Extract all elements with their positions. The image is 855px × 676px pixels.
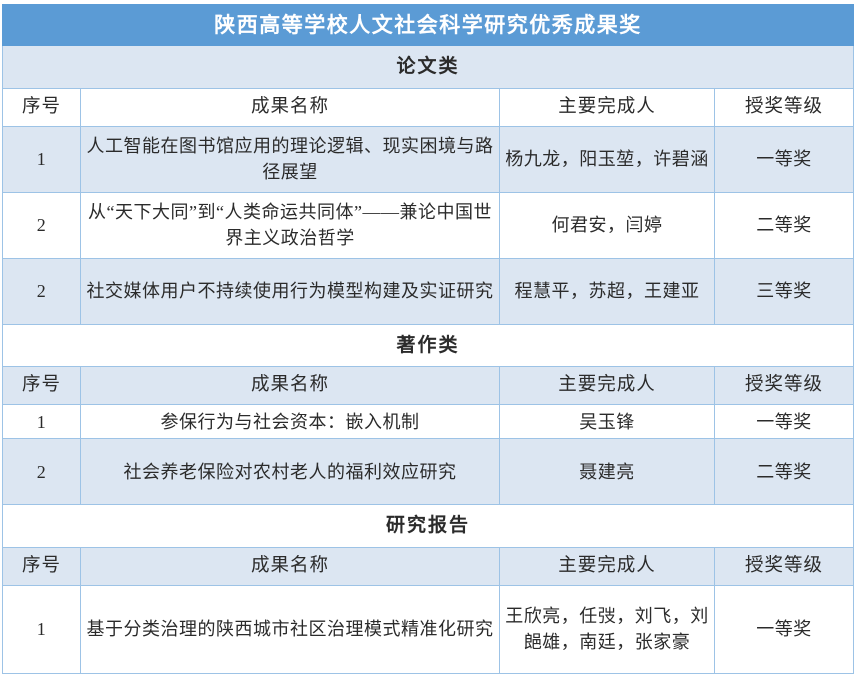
cell-seq: 2	[3, 439, 81, 505]
table-row: 2 社交媒体用户不持续使用行为模型构建及实证研究 程慧平，苏超，王建亚 三等奖	[3, 258, 854, 324]
cell-grade: 二等奖	[715, 439, 854, 505]
cell-name: 参保行为与社会资本：嵌入机制	[81, 405, 500, 439]
column-header-row-books: 序号 成果名称 主要完成人 授奖等级	[3, 367, 854, 405]
section-heading-row-books: 著作类	[3, 324, 854, 367]
column-header-seq: 序号	[3, 367, 81, 405]
column-header-seq: 序号	[3, 88, 81, 126]
cell-authors: 杨九龙，阳玉堃，许碧涵	[500, 126, 715, 192]
column-header-authors: 主要完成人	[500, 367, 715, 405]
cell-grade: 三等奖	[715, 258, 854, 324]
table-row: 1 基于分类治理的陕西城市社区治理模式精准化研究 王欣亮，任弢，刘飞，刘郒雄，南…	[3, 585, 854, 673]
column-header-seq: 序号	[3, 547, 81, 585]
cell-seq: 2	[3, 258, 81, 324]
column-header-grade: 授奖等级	[715, 88, 854, 126]
cell-seq: 2	[3, 192, 81, 258]
award-results-table: 陕西高等学校人文社会科学研究优秀成果奖 论文类 序号 成果名称 主要完成人 授奖…	[2, 4, 854, 674]
cell-authors: 程慧平，苏超，王建亚	[500, 258, 715, 324]
cell-seq: 1	[3, 126, 81, 192]
column-header-grade: 授奖等级	[715, 367, 854, 405]
cell-authors: 何君安，闫婷	[500, 192, 715, 258]
section-heading-reports: 研究报告	[3, 505, 854, 548]
table-row: 2 社会养老保险对农村老人的福利效应研究 聂建亮 二等奖	[3, 439, 854, 505]
cell-grade: 一等奖	[715, 585, 854, 673]
table-row: 2 从“天下大同”到“人类命运共同体”——兼论中国世界主义政治哲学 何君安，闫婷…	[3, 192, 854, 258]
cell-seq: 1	[3, 405, 81, 439]
cell-name: 基于分类治理的陕西城市社区治理模式精准化研究	[81, 585, 500, 673]
section-heading-row-reports: 研究报告	[3, 505, 854, 548]
cell-name: 社交媒体用户不持续使用行为模型构建及实证研究	[81, 258, 500, 324]
column-header-grade: 授奖等级	[715, 547, 854, 585]
cell-grade: 一等奖	[715, 405, 854, 439]
column-header-row-papers: 序号 成果名称 主要完成人 授奖等级	[3, 88, 854, 126]
cell-name: 人工智能在图书馆应用的理论逻辑、现实困境与路径展望	[81, 126, 500, 192]
cell-authors: 聂建亮	[500, 439, 715, 505]
column-header-name: 成果名称	[81, 88, 500, 126]
cell-authors: 吴玉锋	[500, 405, 715, 439]
table-title-row: 陕西高等学校人文社会科学研究优秀成果奖	[3, 5, 854, 46]
cell-grade: 二等奖	[715, 192, 854, 258]
cell-name: 社会养老保险对农村老人的福利效应研究	[81, 439, 500, 505]
cell-grade: 一等奖	[715, 126, 854, 192]
column-header-authors: 主要完成人	[500, 547, 715, 585]
table-row: 1 人工智能在图书馆应用的理论逻辑、现实困境与路径展望 杨九龙，阳玉堃，许碧涵 …	[3, 126, 854, 192]
column-header-authors: 主要完成人	[500, 88, 715, 126]
cell-seq: 1	[3, 585, 81, 673]
section-heading-row-papers: 论文类	[3, 46, 854, 89]
column-header-name: 成果名称	[81, 367, 500, 405]
cell-authors: 王欣亮，任弢，刘飞，刘郒雄，南廷，张家豪	[500, 585, 715, 673]
section-heading-books: 著作类	[3, 324, 854, 367]
page-title: 陕西高等学校人文社会科学研究优秀成果奖	[3, 5, 854, 46]
award-table-container: 陕西高等学校人文社会科学研究优秀成果奖 论文类 序号 成果名称 主要完成人 授奖…	[0, 0, 855, 676]
table-row: 1 参保行为与社会资本：嵌入机制 吴玉锋 一等奖	[3, 405, 854, 439]
column-header-name: 成果名称	[81, 547, 500, 585]
section-heading-papers: 论文类	[3, 46, 854, 89]
cell-name: 从“天下大同”到“人类命运共同体”——兼论中国世界主义政治哲学	[81, 192, 500, 258]
column-header-row-reports: 序号 成果名称 主要完成人 授奖等级	[3, 547, 854, 585]
